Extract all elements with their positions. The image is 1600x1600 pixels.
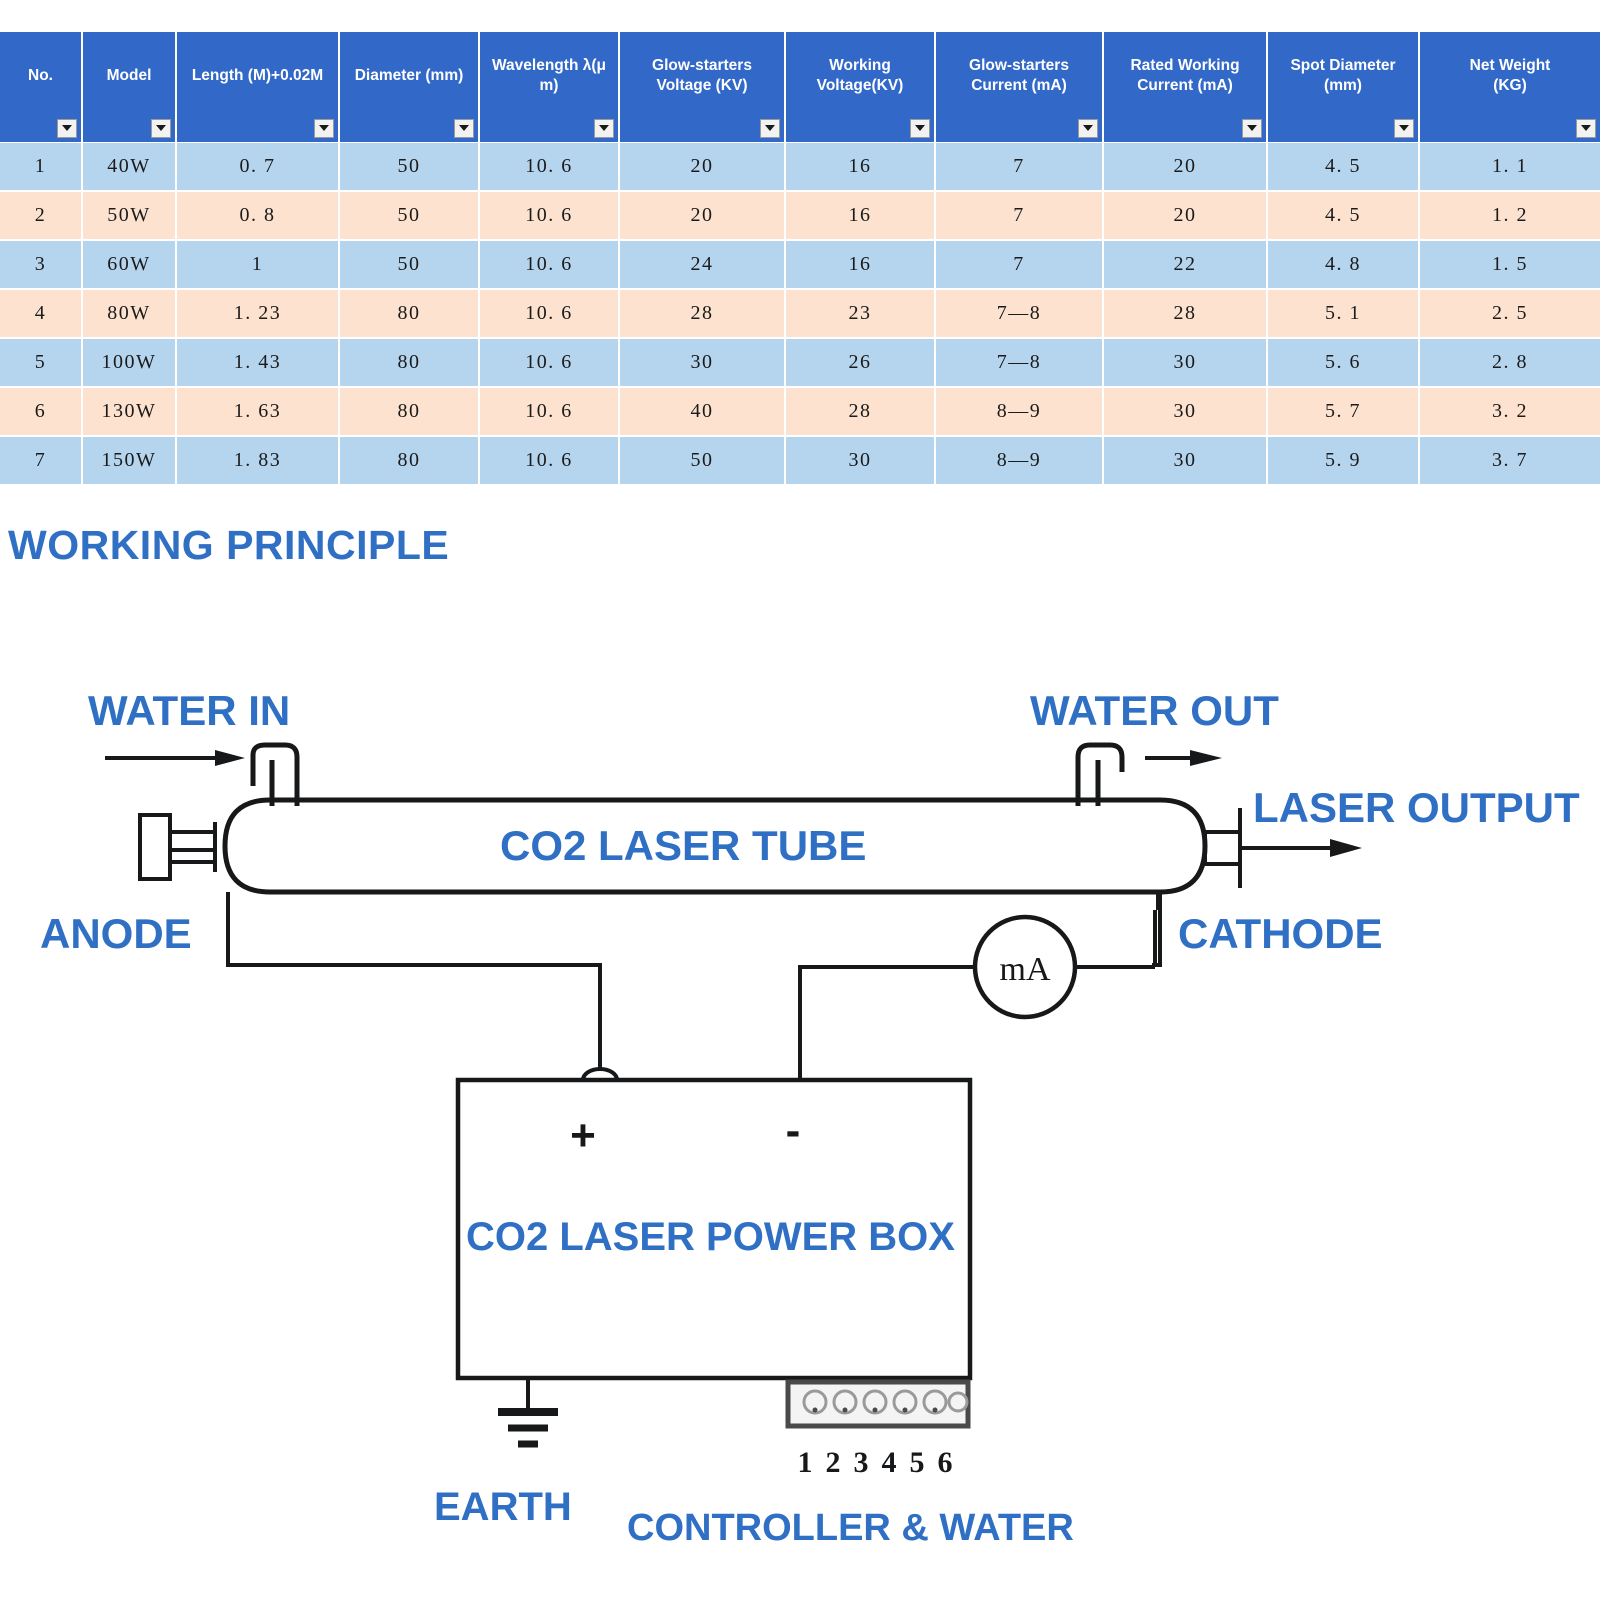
laser-output-label: LASER OUTPUT [1253,784,1580,831]
cell-diameter: 80 [339,387,479,436]
column-header-spot-diameter[interactable]: Spot Diameter (mm) [1267,32,1419,142]
cell-no: 5 [0,338,82,387]
cell-no: 4 [0,289,82,338]
table-body: 1 40W 0. 7 50 10. 6 20 16 7 20 4. 5 1. 1… [0,142,1600,485]
column-header-no[interactable]: No. [0,32,82,142]
water-out-pipe [1078,745,1122,806]
cell-glow-voltage: 20 [619,191,785,240]
filter-dropdown-glow-current[interactable] [1078,119,1098,138]
cell-working-voltage: 30 [785,436,935,485]
cell-glow-voltage: 24 [619,240,785,289]
cell-rated-current: 22 [1103,240,1267,289]
filter-dropdown-no[interactable] [57,119,77,138]
pin-number: 1 [798,1446,813,1479]
filter-dropdown-diameter[interactable] [454,119,474,138]
cell-length: 1. 63 [176,387,339,436]
header-line-1: Wavelength λ(μ [492,57,606,74]
table-row: 6 130W 1. 63 80 10. 6 40 28 8—9 30 5. 7 … [0,387,1600,436]
cell-wavelength: 10. 6 [479,387,619,436]
cell-net-weight: 3. 2 [1419,387,1600,436]
cell-rated-current: 20 [1103,142,1267,191]
cell-model: 40W [82,142,176,191]
cell-net-weight: 1. 1 [1419,142,1600,191]
anode-label: ANODE [40,910,192,957]
cell-length: 0. 8 [176,191,339,240]
chevron-down-icon [1247,125,1257,131]
cell-glow-current: 7—8 [935,289,1103,338]
cell-length: 0. 7 [176,142,339,191]
cell-no: 6 [0,387,82,436]
header-line-1: Rated Working [1130,57,1239,74]
pin-number: 2 [826,1446,841,1479]
cell-wavelength: 10. 6 [479,142,619,191]
cell-glow-current: 7—8 [935,338,1103,387]
column-header-diameter[interactable]: Diameter (mm) [339,32,479,142]
pin-number: 4 [882,1446,897,1479]
filter-dropdown-model[interactable] [151,119,171,138]
page-root: No. Model Length (M)+0.02M Diameter (mm) [0,0,1600,1600]
cell-length: 1. 43 [176,338,339,387]
cell-net-weight: 3. 7 [1419,436,1600,485]
header-line-2: Current (mA) [971,77,1067,94]
negative-terminal-label: - [786,1106,801,1155]
cell-no: 3 [0,240,82,289]
chevron-down-icon [1581,125,1591,131]
cell-model: 60W [82,240,176,289]
cell-net-weight: 2. 8 [1419,338,1600,387]
cell-glow-voltage: 28 [619,289,785,338]
header-line-1: Length (M)+0.02M [192,67,323,84]
cell-length: 1 [176,240,339,289]
controller-label: CONTROLLER & WATER [627,1507,1074,1549]
chevron-down-icon [459,125,469,131]
header-line-1: Diameter (mm) [355,67,464,84]
table-row: 7 150W 1. 83 80 10. 6 50 30 8—9 30 5. 9 … [0,436,1600,485]
chevron-down-icon [915,125,925,131]
cell-wavelength: 10. 6 [479,191,619,240]
cell-working-voltage: 23 [785,289,935,338]
water-out-arrow-icon [1145,750,1222,766]
header-line-1: Glow-starters [652,57,752,74]
header-line-1: Spot Diameter [1290,57,1395,74]
table-row: 1 40W 0. 7 50 10. 6 20 16 7 20 4. 5 1. 1 [0,142,1600,191]
filter-dropdown-working-voltage[interactable] [910,119,930,138]
cell-model: 50W [82,191,176,240]
power-box-label: CO2 LASER POWER BOX [466,1215,955,1259]
column-header-rated-current[interactable]: Rated Working Current (mA) [1103,32,1267,142]
filter-dropdown-wavelength[interactable] [594,119,614,138]
water-in-arrow-icon [105,750,245,766]
filter-dropdown-rated-current[interactable] [1242,119,1262,138]
column-header-model[interactable]: Model [82,32,176,142]
header-line-2: Voltage(KV) [817,77,904,94]
cell-working-voltage: 26 [785,338,935,387]
cell-diameter: 50 [339,191,479,240]
cell-spot-diameter: 4. 8 [1267,240,1419,289]
positive-terminal-label: + [570,1111,596,1160]
cell-spot-diameter: 5. 1 [1267,289,1419,338]
cell-spot-diameter: 5. 9 [1267,436,1419,485]
cell-working-voltage: 28 [785,387,935,436]
cell-glow-voltage: 30 [619,338,785,387]
cell-glow-current: 8—9 [935,387,1103,436]
header-line-1: Working [829,57,891,74]
earth-label: EARTH [434,1485,572,1529]
cell-diameter: 80 [339,338,479,387]
chevron-down-icon [599,125,609,131]
chevron-down-icon [62,125,72,131]
cell-rated-current: 30 [1103,436,1267,485]
chevron-down-icon [156,125,166,131]
water-in-label: WATER IN [88,687,290,734]
cell-model: 80W [82,289,176,338]
pin-number: 5 [910,1446,925,1479]
cell-diameter: 80 [339,289,479,338]
cell-working-voltage: 16 [785,142,935,191]
header-line-2: m) [540,77,559,94]
chevron-down-icon [1083,125,1093,131]
column-header-working-voltage[interactable]: Working Voltage(KV) [785,32,935,142]
cell-rated-current: 30 [1103,387,1267,436]
cell-model: 130W [82,387,176,436]
specifications-table: No. Model Length (M)+0.02M Diameter (mm) [0,32,1600,486]
cell-diameter: 80 [339,436,479,485]
filter-dropdown-glow-voltage[interactable] [760,119,780,138]
cell-glow-current: 7 [935,240,1103,289]
cell-spot-diameter: 5. 7 [1267,387,1419,436]
cell-wavelength: 10. 6 [479,338,619,387]
cell-length: 1. 23 [176,289,339,338]
milliamp-meter-icon: mA [975,917,1075,1017]
table-row: 4 80W 1. 23 80 10. 6 28 23 7—8 28 5. 1 2… [0,289,1600,338]
controller-connector-block [788,1382,968,1426]
column-header-wavelength[interactable]: Wavelength λ(μ m) [479,32,619,142]
cell-diameter: 50 [339,240,479,289]
co2-laser-tube-label: CO2 LASER TUBE [500,822,866,869]
header-line-2: (mm) [1324,77,1362,94]
filter-dropdown-net-weight[interactable] [1576,119,1596,138]
header-line-1: No. [28,67,53,84]
header-line-2: (KG) [1493,77,1527,94]
table-header-row: No. Model Length (M)+0.02M Diameter (mm) [0,32,1600,142]
page-title: WORKING PRINCIPLE [8,522,449,569]
earth-ground-icon [498,1378,558,1444]
anode-end-cap [140,815,215,879]
cell-rated-current: 20 [1103,191,1267,240]
cell-model: 150W [82,436,176,485]
cell-net-weight: 1. 2 [1419,191,1600,240]
laser-output-window [1205,808,1240,888]
header-line-1: Model [107,67,152,84]
cell-diameter: 50 [339,142,479,191]
cell-glow-voltage: 50 [619,436,785,485]
cell-no: 2 [0,191,82,240]
filter-dropdown-length[interactable] [314,119,334,138]
header-line-2: Voltage (KV) [657,77,748,94]
cell-rated-current: 30 [1103,338,1267,387]
cell-glow-current: 7 [935,142,1103,191]
column-header-glow-current[interactable]: Glow-starters Current (mA) [935,32,1103,142]
cell-rated-current: 28 [1103,289,1267,338]
cell-glow-voltage: 20 [619,142,785,191]
pin-number: 3 [854,1446,869,1479]
column-header-glow-voltage[interactable]: Glow-starters Voltage (KV) [619,32,785,142]
table-row: 3 60W 1 50 10. 6 24 16 7 22 4. 8 1. 5 [0,240,1600,289]
cell-wavelength: 10. 6 [479,436,619,485]
column-header-length[interactable]: Length (M)+0.02M [176,32,339,142]
cell-glow-current: 7 [935,191,1103,240]
anode-wire [228,892,600,1080]
meter-label: mA [1000,951,1051,988]
cell-wavelength: 10. 6 [479,240,619,289]
column-header-net-weight[interactable]: Net Weight (KG) [1419,32,1600,142]
laser-output-arrow-icon [1240,839,1362,857]
chevron-down-icon [1399,125,1409,131]
working-principle-diagram: mA + - [0,610,1600,1600]
cell-working-voltage: 16 [785,240,935,289]
filter-dropdown-spot-diameter[interactable] [1394,119,1414,138]
pin-number: 6 [938,1446,953,1479]
cell-model: 100W [82,338,176,387]
cell-glow-voltage: 40 [619,387,785,436]
header-line-1: Glow-starters [969,57,1069,74]
cell-net-weight: 2. 5 [1419,289,1600,338]
cell-length: 1. 83 [176,436,339,485]
water-in-pipe [253,745,297,806]
cell-net-weight: 1. 5 [1419,240,1600,289]
cell-no: 1 [0,142,82,191]
cell-working-voltage: 16 [785,191,935,240]
header-line-1: Net Weight [1470,57,1551,74]
table-row: 2 50W 0. 8 50 10. 6 20 16 7 20 4. 5 1. 2 [0,191,1600,240]
cell-spot-diameter: 4. 5 [1267,191,1419,240]
header-line-2: Current (mA) [1137,77,1233,94]
cell-spot-diameter: 4. 5 [1267,142,1419,191]
table-row: 5 100W 1. 43 80 10. 6 30 26 7—8 30 5. 6 … [0,338,1600,387]
water-out-label: WATER OUT [1030,687,1279,734]
spec-table-container: No. Model Length (M)+0.02M Diameter (mm) [0,32,1600,486]
cathode-label: CATHODE [1178,910,1383,957]
cell-no: 7 [0,436,82,485]
cell-glow-current: 8—9 [935,436,1103,485]
chevron-down-icon [319,125,329,131]
cell-spot-diameter: 5. 6 [1267,338,1419,387]
chevron-down-icon [765,125,775,131]
cell-wavelength: 10. 6 [479,289,619,338]
